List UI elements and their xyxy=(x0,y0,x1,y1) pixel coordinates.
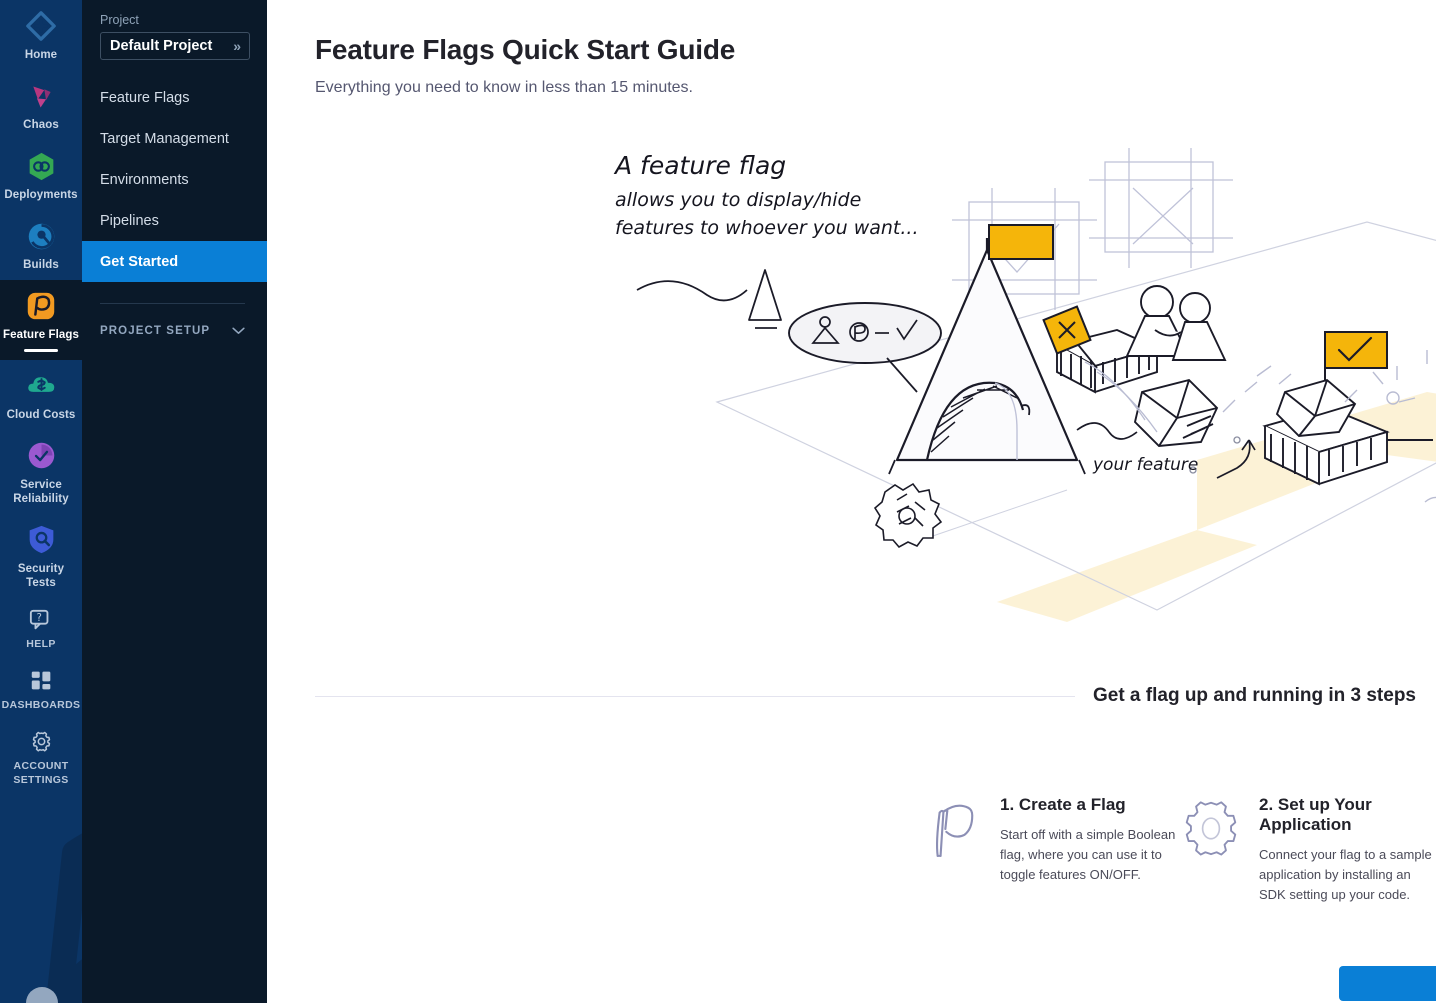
rail-item-account-settings[interactable]: ACCOUNT SETTINGS xyxy=(0,720,82,795)
sidebar-divider xyxy=(100,303,245,304)
rail-label: Builds xyxy=(23,258,59,272)
flag-outline-icon xyxy=(930,795,980,905)
sidebar-item-feature-flags[interactable]: Feature Flags xyxy=(82,77,267,118)
cta-container: Get Started xyxy=(1339,966,1436,1001)
page-header: Feature Flags Quick Start Guide Everythi… xyxy=(267,0,1436,97)
rail-label: Chaos xyxy=(23,118,59,132)
rail-item-help[interactable]: ? HELP xyxy=(0,598,82,659)
chaos-icon xyxy=(24,79,58,113)
sidebar-item-get-started[interactable]: Get Started xyxy=(82,241,267,282)
gear-icon xyxy=(28,729,54,755)
service-reliability-icon xyxy=(24,439,58,473)
rail-label: HELP xyxy=(26,637,55,651)
sidebar-section-project-setup[interactable]: PROJECT SETUP xyxy=(82,324,267,338)
rail-label: Service Reliability xyxy=(2,478,80,506)
feature-flags-icon xyxy=(24,289,58,323)
rail-label: DASHBOARDS xyxy=(2,698,81,712)
rail-label: Cloud Costs xyxy=(7,408,76,422)
rail-item-deployments[interactable]: Deployments xyxy=(0,140,82,210)
svg-text:?: ? xyxy=(36,612,41,623)
rail-item-feature-flags[interactable]: Feature Flags xyxy=(0,280,82,360)
get-started-button[interactable]: Get Started xyxy=(1339,966,1436,1001)
rail-label: ACCOUNT SETTINGS xyxy=(2,759,80,787)
rail-item-service-reliability[interactable]: Service Reliability xyxy=(0,430,82,514)
sidebar-item-environments[interactable]: Environments xyxy=(82,159,267,200)
home-diamond-icon xyxy=(24,9,58,43)
step-set-up-your-application: 2. Set up Your Application Connect your … xyxy=(1183,795,1436,905)
rail-item-dashboards[interactable]: DASHBOARDS xyxy=(0,659,82,720)
step-title: 2. Set up Your Application xyxy=(1259,795,1436,835)
rail-item-chaos[interactable]: Chaos xyxy=(0,70,82,140)
project-selector[interactable]: Default Project » xyxy=(100,32,250,60)
rail-item-home[interactable]: Home xyxy=(0,0,82,70)
sketch-note-line-2: allows you to display/hide xyxy=(615,189,861,211)
help-icon: ? xyxy=(28,607,54,633)
hero-illustration: A feature flag allows you to display/hid… xyxy=(267,140,1436,670)
steps-heading: Get a flag up and running in 3 steps xyxy=(1075,685,1416,707)
step-body: Connect your flag to a sample applicatio… xyxy=(1259,845,1436,905)
builds-icon xyxy=(24,219,58,253)
primary-nav-rail: Home Chaos Deployments xyxy=(0,0,82,1003)
rail-label: Security Tests xyxy=(2,562,80,590)
rail-item-cloud-costs[interactable]: Cloud Costs xyxy=(0,360,82,430)
steps-divider xyxy=(315,696,1075,697)
step-create-a-flag: 1. Create a Flag Start off with a simple… xyxy=(930,795,1183,905)
sketch-label-your-feature: your feature xyxy=(1092,455,1198,475)
user-avatar[interactable] xyxy=(26,987,58,1003)
sketch-note-line-1: A feature flag xyxy=(613,151,786,180)
page-title: Feature Flags Quick Start Guide xyxy=(315,34,1436,66)
security-tests-icon xyxy=(24,523,58,557)
project-selector-value: Default Project xyxy=(110,38,212,54)
sidebar-item-target-management[interactable]: Target Management xyxy=(82,118,267,159)
page-subtitle: Everything you need to know in less than… xyxy=(315,79,1436,97)
feature-flag-sketch-illustration: A feature flag allows you to display/hid… xyxy=(597,140,1436,670)
step-body: Start off with a simple Boolean flag, wh… xyxy=(1000,825,1183,885)
rail-item-security-tests[interactable]: Security Tests xyxy=(0,514,82,598)
chevron-down-icon xyxy=(232,324,245,338)
main-content: Feature Flags Quick Start Guide Everythi… xyxy=(267,0,1436,1003)
rail-active-underline xyxy=(24,349,58,352)
steps-row: 1. Create a Flag Start off with a simple… xyxy=(267,795,1436,905)
project-nav-list: Feature Flags Target Management Environm… xyxy=(82,77,267,282)
dashboards-icon xyxy=(28,668,54,694)
rail-label: Feature Flags xyxy=(3,328,79,342)
deployments-icon xyxy=(24,149,58,183)
rail-label: Home xyxy=(25,48,57,62)
project-sidebar: Project Default Project » Feature Flags … xyxy=(82,0,267,1003)
step-title: 1. Create a Flag xyxy=(1000,795,1183,815)
sketch-note-line-3: features to whoever you want... xyxy=(615,217,919,239)
steps-heading-row: Get a flag up and running in 3 steps xyxy=(315,685,1416,707)
sidebar-item-pipelines[interactable]: Pipelines xyxy=(82,200,267,241)
gear-outline-icon xyxy=(1183,795,1239,905)
double-chevron-right-icon: » xyxy=(233,38,241,54)
sidebar-section-label: PROJECT SETUP xyxy=(100,325,210,337)
rail-label: Deployments xyxy=(4,188,77,202)
project-label: Project xyxy=(82,13,267,32)
cloud-costs-icon xyxy=(24,369,58,403)
rail-item-builds[interactable]: Builds xyxy=(0,210,82,280)
